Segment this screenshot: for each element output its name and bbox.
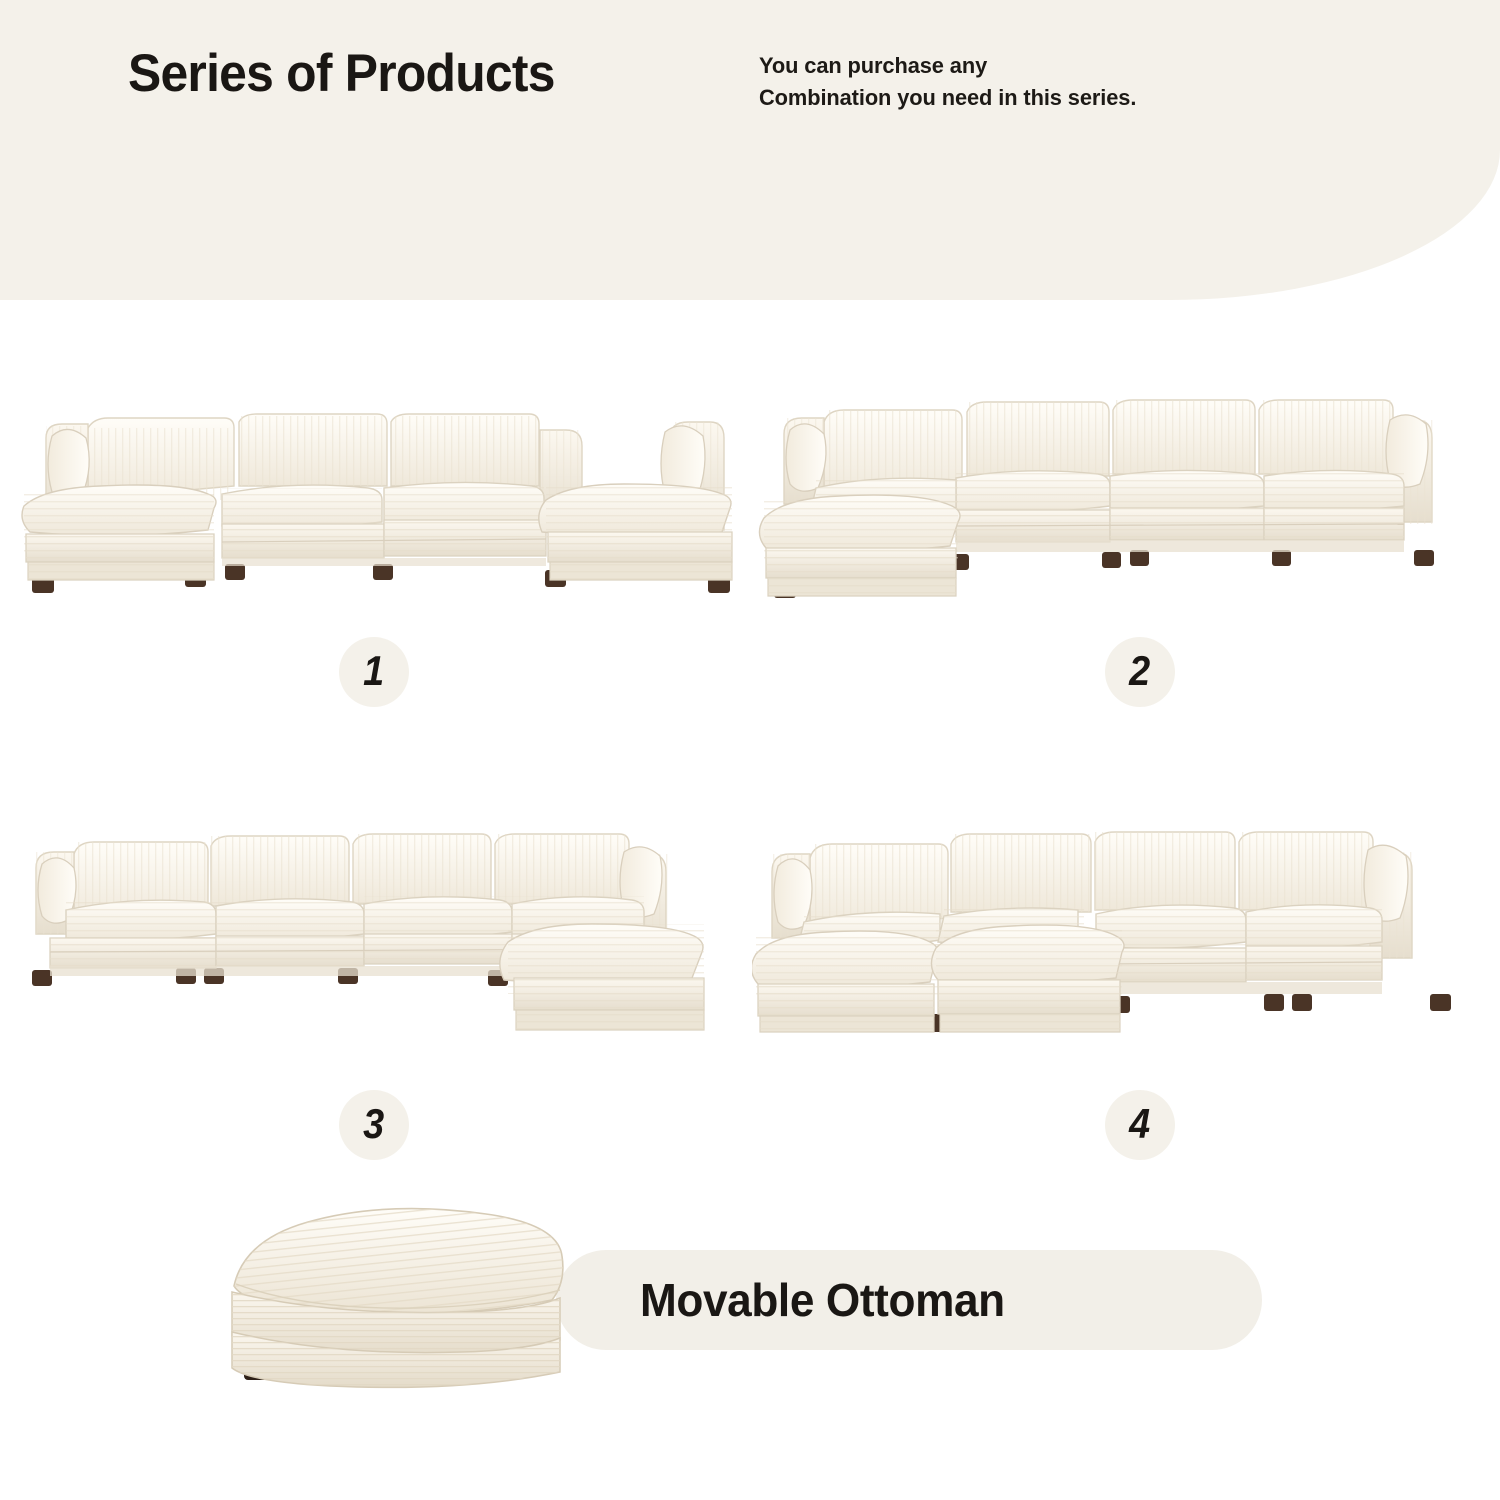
movable-ottoman-label: Movable Ottoman — [640, 1273, 1005, 1327]
product-badge-2: 2 — [1105, 637, 1175, 707]
product-badge-3: 3 — [339, 1090, 409, 1160]
ottoman-illustration — [206, 1192, 586, 1392]
ottoman-module-left — [22, 485, 216, 580]
page-title: Series of Products — [128, 43, 555, 104]
sofa-illustration-4 — [752, 818, 1472, 1053]
ottoman-top-cushion — [234, 1209, 563, 1315]
badge-label: 3 — [363, 1103, 384, 1145]
product-image-4[interactable] — [752, 818, 1472, 1053]
badge-label: 1 — [363, 650, 384, 692]
ottoman-module-right — [500, 924, 704, 1030]
ottoman-module-right — [539, 484, 732, 580]
product-image-2[interactable] — [752, 382, 1487, 617]
ottoman-product-image[interactable] — [206, 1192, 586, 1392]
header-subtitle: You can purchase any Combination you nee… — [759, 50, 1136, 114]
product-badge-4: 4 — [1105, 1090, 1175, 1160]
sofa-illustration-3 — [8, 818, 738, 1053]
sofa-illustration-2 — [752, 382, 1487, 617]
badge-label: 4 — [1129, 1103, 1150, 1145]
ottoman-module-left — [759, 495, 960, 596]
product-image-3[interactable] — [8, 818, 738, 1053]
ottoman-module-front-left — [752, 931, 938, 1032]
badge-label: 2 — [1129, 650, 1150, 692]
ottoman-module-front-right — [931, 925, 1124, 1032]
movable-ottoman-banner: Movable Ottoman — [556, 1250, 1262, 1350]
product-image-1[interactable] — [10, 382, 740, 617]
sofa-illustration-1 — [10, 382, 740, 617]
header: Series of Products You can purchase any … — [0, 0, 1500, 160]
product-badge-1: 1 — [339, 637, 409, 707]
